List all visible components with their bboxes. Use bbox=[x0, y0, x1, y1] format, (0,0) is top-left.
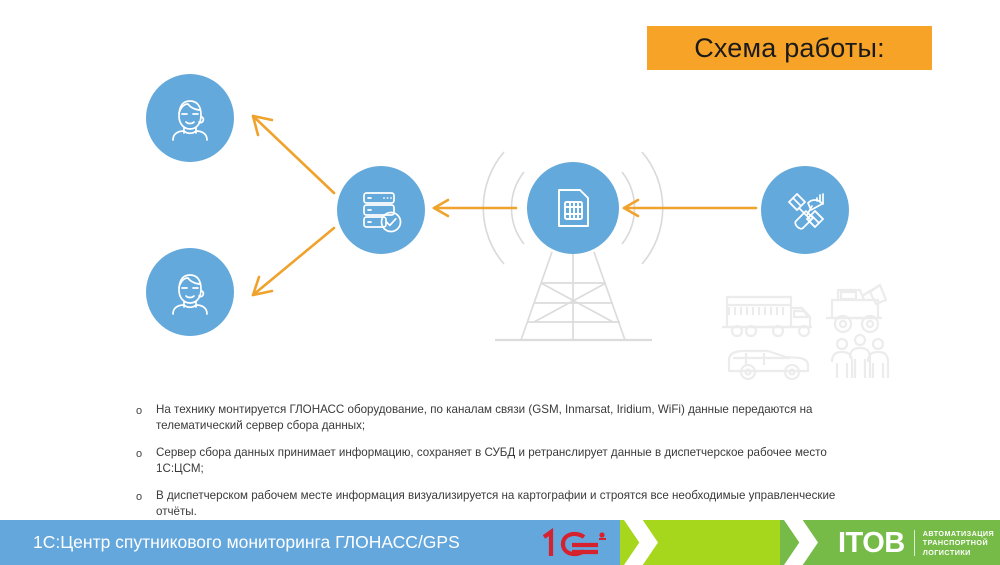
arrow-satellite-to-sim bbox=[624, 200, 756, 216]
sim-card-icon bbox=[544, 179, 602, 237]
workflow-diagram bbox=[0, 0, 1000, 400]
operator-headset-icon bbox=[162, 90, 218, 146]
cell-tower-icon bbox=[0, 0, 1000, 400]
arrow-sim-to-server bbox=[434, 200, 516, 216]
node-server[interactable] bbox=[337, 166, 425, 254]
arrow-server-to-operator-bottom bbox=[253, 228, 334, 295]
database-server-check-icon bbox=[353, 182, 409, 238]
partner-logo: ITOB АВТОМАТИЗАЦИЯ ТРАНСПОРТНОЙ ЛОГИСТИК… bbox=[838, 527, 994, 559]
operator-headset-icon bbox=[162, 264, 218, 320]
excavator-icon bbox=[826, 285, 886, 332]
bullet-text: Сервер сбора данных принимает информацию… bbox=[156, 445, 876, 477]
node-operator-top[interactable] bbox=[146, 74, 234, 162]
list-item: o На технику монтируется ГЛОНАСС оборудо… bbox=[136, 402, 876, 434]
node-sim-card[interactable] bbox=[527, 162, 619, 254]
bullet-marker: o bbox=[136, 445, 156, 462]
node-satellite[interactable] bbox=[761, 166, 849, 254]
list-item: o Сервер сбора данных принимает информац… bbox=[136, 445, 876, 477]
truck-icon bbox=[722, 297, 812, 336]
logo-divider bbox=[914, 530, 915, 556]
partner-name: ITOB bbox=[838, 528, 905, 558]
product-title: 1С:Центр спутникового мониторинга ГЛОНАС… bbox=[33, 520, 460, 565]
partner-tagline: АВТОМАТИЗАЦИЯ ТРАНСПОРТНОЙ ЛОГИСТИКИ bbox=[923, 529, 994, 557]
tagline-line-2: ТРАНСПОРТНОЙ bbox=[923, 538, 994, 547]
bullet-marker: o bbox=[136, 402, 156, 419]
slide-root: Схема работы: bbox=[0, 0, 1000, 565]
node-operator-bottom[interactable] bbox=[146, 248, 234, 336]
footer-bar: 1С:Центр спутникового мониторинга ГЛОНАС… bbox=[0, 520, 1000, 565]
bullet-text: На технику монтируется ГЛОНАСС оборудова… bbox=[156, 402, 876, 434]
arrow-server-to-operator-top bbox=[253, 116, 334, 193]
list-item: o В диспетчерском рабочем месте информац… bbox=[136, 488, 876, 520]
tagline-line-3: ЛОГИСТИКИ bbox=[923, 548, 994, 557]
bullet-marker: o bbox=[136, 488, 156, 505]
equipment-watermarks bbox=[0, 0, 1000, 400]
tagline-line-1: АВТОМАТИЗАЦИЯ bbox=[923, 529, 994, 538]
satellite-icon bbox=[777, 182, 833, 238]
people-group-icon bbox=[832, 335, 888, 378]
diagram-arrows bbox=[0, 0, 1000, 400]
bullet-text: В диспетчерском рабочем месте информация… bbox=[156, 488, 876, 520]
1c-logo bbox=[536, 528, 622, 558]
suv-icon bbox=[729, 351, 808, 379]
bullet-list: o На технику монтируется ГЛОНАСС оборудо… bbox=[136, 402, 876, 531]
